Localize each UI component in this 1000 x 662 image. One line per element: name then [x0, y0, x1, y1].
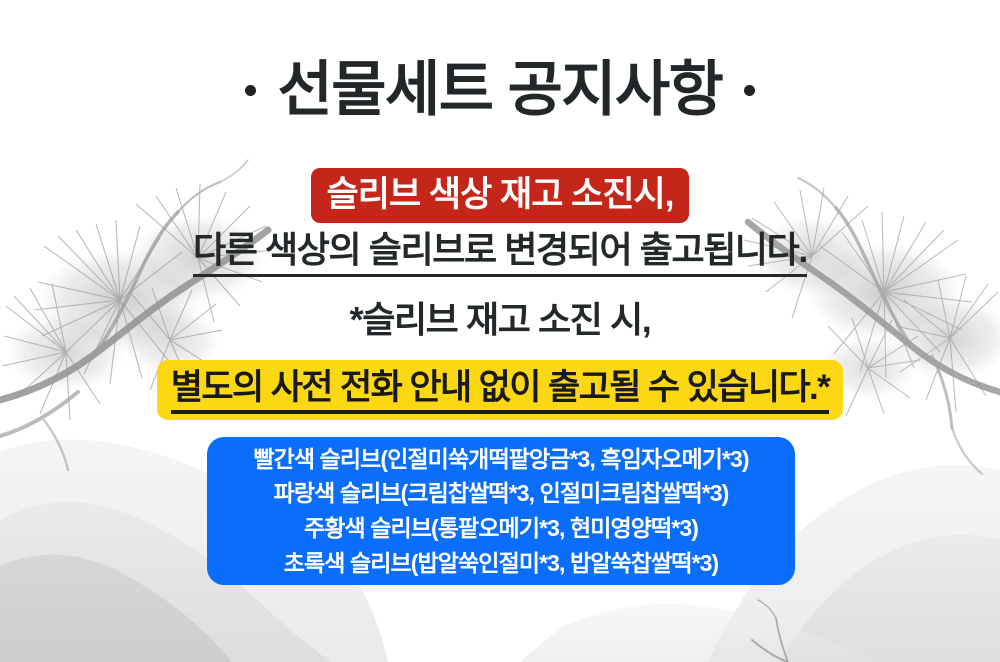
- sleeve-list-item: 빨간색 슬리브(인절미쑥개떡팥앙금*3, 흑임자오메기*3): [253, 443, 748, 476]
- asterisk-notice-text: *슬리브 재고 소진 시,: [350, 302, 651, 338]
- title-dot-left-icon: [245, 85, 256, 96]
- sleeve-color-list-box: 빨간색 슬리브(인절미쑥개떡팥앙금*3, 흑임자오메기*3) 파랑색 슬리브(크…: [207, 437, 795, 585]
- sleeve-list-item: 초록색 슬리브(밥알쑥인절미*3, 밥알쑥찹쌀떡*3): [284, 547, 719, 580]
- red-highlight-row: 슬리브 색상 재고 소진시,: [0, 168, 1000, 223]
- page-title-row: 선물세트 공지사항: [0, 60, 1000, 120]
- red-highlight-badge: 슬리브 색상 재고 소진시,: [311, 168, 690, 223]
- title-dot-right-icon: [744, 85, 755, 96]
- yellow-highlight-badge: 별도의 사전 전화 안내 없이 출고될 수 있습니다.*: [157, 360, 843, 420]
- asterisk-notice-row: *슬리브 재고 소진 시,: [0, 302, 1000, 338]
- yellow-highlight-row: 별도의 사전 전화 안내 없이 출고될 수 있습니다.*: [0, 360, 1000, 420]
- yellow-highlight-text: 별도의 사전 전화 안내 없이 출고될 수 있습니다.*: [171, 370, 829, 414]
- sleeve-list-item: 주황색 슬리브(통팥오메기*3, 현미영양떡*3): [304, 512, 698, 545]
- underlined-notice-text: 다른 색상의 슬리브로 변경되어 출고됩니다.: [193, 232, 807, 277]
- page-title: 선물세트 공지사항: [278, 60, 723, 120]
- gift-set-notice-banner: 선물세트 공지사항 슬리브 색상 재고 소진시, 다른 색상의 슬리브로 변경되…: [0, 0, 1000, 662]
- sleeve-list-item: 파랑색 슬리브(크림찹쌀떡*3, 인절미크림찹쌀떡*3): [274, 477, 729, 510]
- underlined-notice-row: 다른 색상의 슬리브로 변경되어 출고됩니다.: [0, 232, 1000, 277]
- bottom-twig: [752, 600, 788, 662]
